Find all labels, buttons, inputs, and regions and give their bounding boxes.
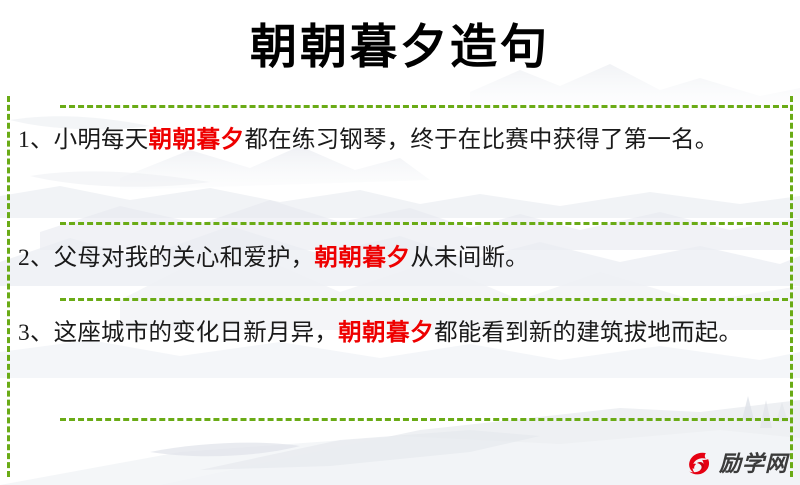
sentence-text-after: 都能看到新的建筑拔地而起。 — [434, 320, 742, 346]
separator-after-sentence-2 — [60, 298, 788, 301]
list-item: 1、小明每天朝朝暮夕都在练习钢琴，终于在比赛中获得了第一名。 — [18, 118, 786, 162]
site-logo[interactable]: 励学网 — [683, 449, 788, 479]
sentence-text-after: 都在练习钢琴，终于在比赛中获得了第一名。 — [244, 127, 718, 153]
highlight-term: 朝朝暮夕 — [314, 245, 410, 271]
sentence-worksheet-page: 朝朝暮夕造句 1、小明每天朝朝暮夕都在练习钢琴，终于在比赛中获得了第一名。 2、… — [0, 0, 800, 485]
highlight-term: 朝朝暮夕 — [338, 320, 434, 346]
highlight-term: 朝朝暮夕 — [148, 127, 244, 153]
separator-top — [60, 105, 788, 108]
sentence-text-before: 小明每天 — [54, 127, 149, 153]
separator-after-sentence-1 — [60, 222, 788, 225]
site-logo-text: 励学网 — [719, 453, 788, 475]
flame-swirl-icon — [683, 449, 713, 479]
sentence-index: 2、 — [18, 245, 54, 271]
page-title-bar: 朝朝暮夕造句 — [0, 0, 800, 96]
sentence-index: 1、 — [18, 127, 54, 153]
sentence-text-before: 父母对我的关心和爱护， — [54, 245, 315, 271]
separator-bottom — [60, 418, 788, 421]
sentence-index: 3、 — [18, 320, 54, 346]
list-item: 2、父母对我的关心和爱护，朝朝暮夕从未间断。 — [18, 236, 786, 280]
sentence-text-after: 从未间断。 — [410, 245, 529, 271]
sentence-text-before: 这座城市的变化日新月异， — [54, 320, 338, 346]
list-item: 3、这座城市的变化日新月异，朝朝暮夕都能看到新的建筑拔地而起。 — [18, 311, 786, 355]
page-title: 朝朝暮夕造句 — [250, 25, 550, 72]
